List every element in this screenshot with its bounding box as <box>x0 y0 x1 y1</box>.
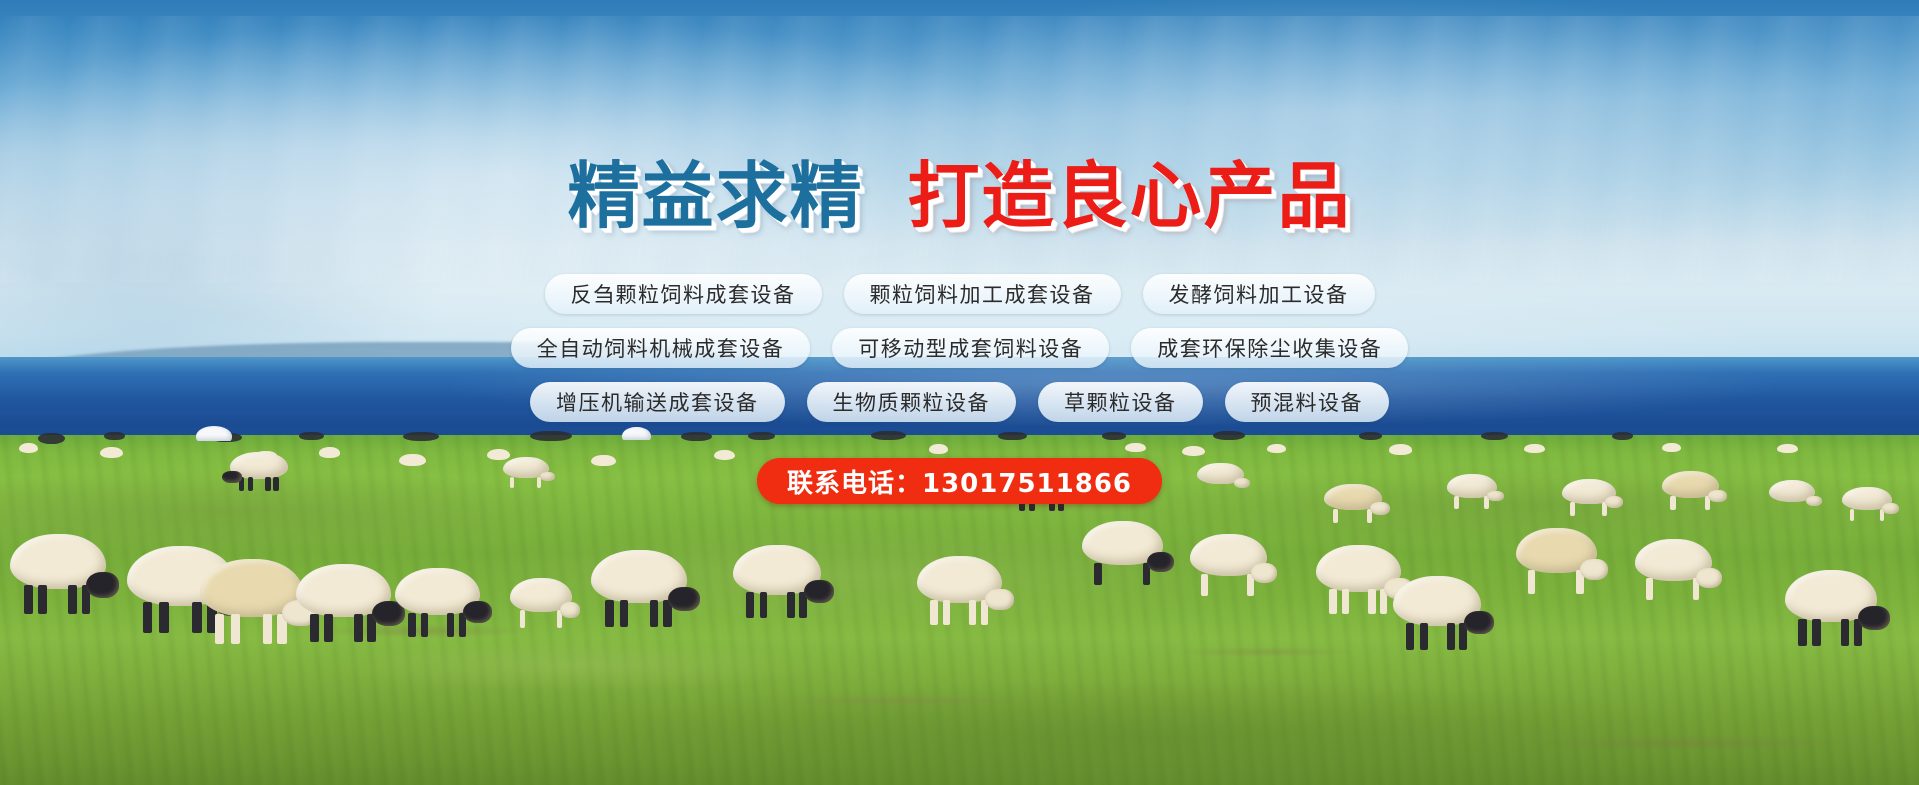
product-pill-grass-pellet-equipment[interactable]: 草颗粒设备 <box>1038 382 1203 422</box>
hero-banner: 精益求精 打造良心产品 反刍颗粒饲料成套设备 颗粒饲料加工成套设备 发酵饲料加工… <box>0 0 1919 785</box>
product-pill-row: 反刍颗粒饲料成套设备 颗粒饲料加工成套设备 发酵饲料加工设备 <box>545 274 1375 314</box>
contact-phone-button[interactable]: 联系电话：13017511866 <box>757 458 1162 504</box>
product-pill-mobile-complete-feed-equipment[interactable]: 可移动型成套饲料设备 <box>832 328 1109 368</box>
product-pill-row: 全自动饲料机械成套设备 可移动型成套饲料设备 成套环保除尘收集设备 <box>511 328 1409 368</box>
product-pill-row: 增压机输送成套设备 生物质颗粒设备 草颗粒设备 预混料设备 <box>530 382 1389 422</box>
product-pill-ruminant-pellet-feed-complete-equipment[interactable]: 反刍颗粒饲料成套设备 <box>545 274 822 314</box>
product-pill-complete-environmental-dust-collection-equipment[interactable]: 成套环保除尘收集设备 <box>1131 328 1408 368</box>
headline: 精益求精 打造良心产品 <box>567 160 1351 232</box>
headline-blue-segment: 精益求精 <box>567 160 863 232</box>
product-pill-pellet-feed-processing-complete-equipment[interactable]: 颗粒饲料加工成套设备 <box>844 274 1121 314</box>
product-pill-fully-automatic-feed-machinery-complete-equipment[interactable]: 全自动饲料机械成套设备 <box>511 328 811 368</box>
product-pill-booster-conveying-complete-equipment[interactable]: 增压机输送成套设备 <box>530 382 785 422</box>
product-pill-fermented-feed-processing-equipment[interactable]: 发酵饲料加工设备 <box>1143 274 1375 314</box>
product-pill-list: 反刍颗粒饲料成套设备 颗粒饲料加工成套设备 发酵饲料加工设备 全自动饲料机械成套… <box>511 274 1409 422</box>
product-pill-premix-equipment[interactable]: 预混料设备 <box>1225 382 1390 422</box>
product-pill-biomass-pellet-equipment[interactable]: 生物质颗粒设备 <box>807 382 1017 422</box>
headline-red-segment: 打造良心产品 <box>908 160 1352 232</box>
banner-content: 精益求精 打造良心产品 反刍颗粒饲料成套设备 颗粒饲料加工成套设备 发酵饲料加工… <box>0 0 1919 785</box>
